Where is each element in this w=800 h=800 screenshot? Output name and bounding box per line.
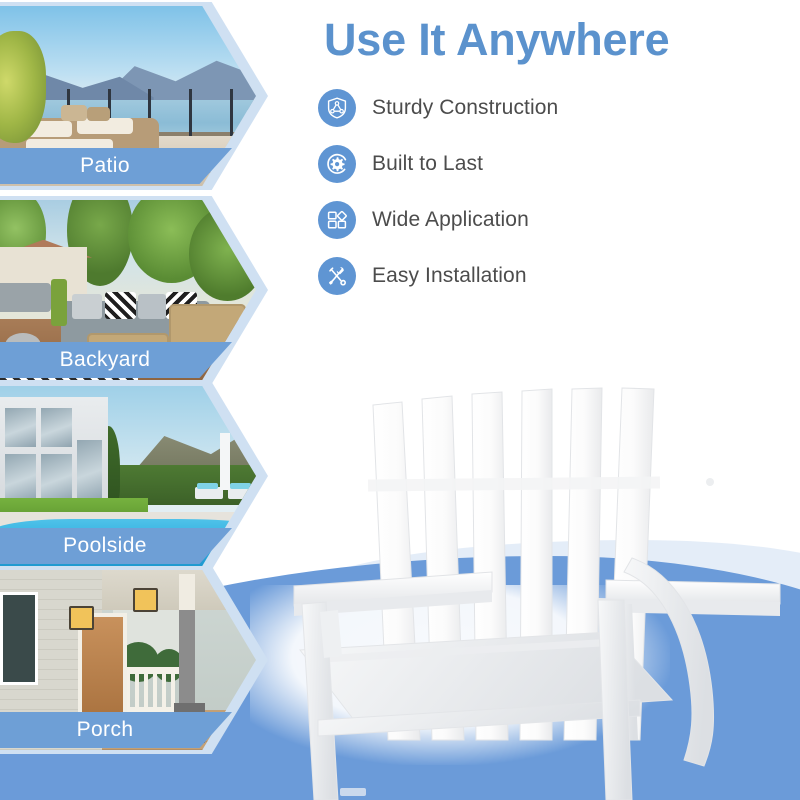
scene-label-porch: Porch	[0, 712, 232, 748]
page-title: Use It Anywhere	[324, 14, 669, 66]
scene-label-patio: Patio	[0, 148, 232, 184]
grid-blocks-icon	[318, 201, 356, 239]
scene-thumbnail-list: Patio	[0, 0, 300, 800]
feature-item-easy-installation: Easy Installation	[318, 248, 718, 304]
feature-label: Sturdy Construction	[372, 96, 558, 120]
scene-label-poolside: Poolside	[0, 528, 232, 564]
scene-thumbnail-patio[interactable]: Patio	[0, 2, 268, 190]
feature-item-sturdy-construction: Sturdy Construction	[318, 80, 718, 136]
scene-thumbnail-backyard[interactable]: Backyard	[0, 196, 268, 384]
gear-icon	[318, 145, 356, 183]
promo-banner: Patio	[0, 0, 800, 800]
tools-icon	[318, 257, 356, 295]
shield-icon	[318, 89, 356, 127]
scene-label-backyard: Backyard	[0, 342, 232, 378]
feature-label: Wide Application	[372, 208, 529, 232]
scene-thumbnail-poolside[interactable]: Poolside	[0, 382, 268, 570]
feature-list: Sturdy Construction Built to Last	[318, 80, 718, 304]
feature-item-built-to-last: Built to Last	[318, 136, 718, 192]
feature-label: Built to Last	[372, 152, 483, 176]
feature-label: Easy Installation	[372, 264, 527, 288]
feature-item-wide-application: Wide Application	[318, 192, 718, 248]
scene-thumbnail-porch[interactable]: Porch	[0, 566, 268, 754]
